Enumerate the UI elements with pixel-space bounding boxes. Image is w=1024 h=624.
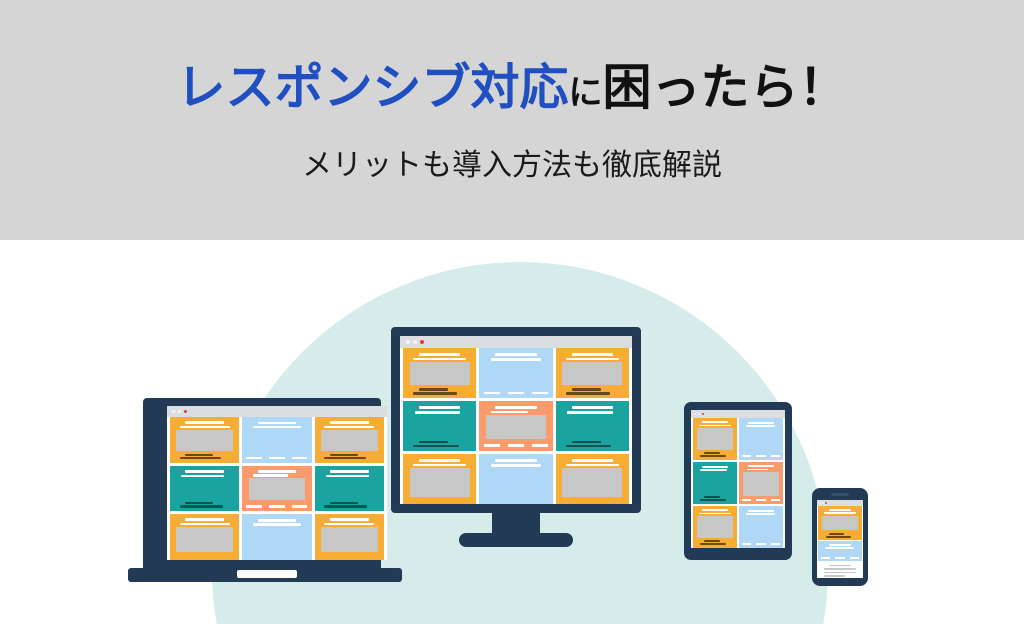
card-subtitle-line xyxy=(747,469,768,471)
page-root: レスポンシブ対応に困ったら！ メリットも導入方法も徹底解説 xyxy=(0,0,1024,624)
card-orange xyxy=(170,417,239,463)
illustration-stage xyxy=(0,240,1024,624)
card-light-blue xyxy=(479,348,552,398)
tablet-browser-chrome xyxy=(691,410,785,418)
card-footer-line-1 xyxy=(572,388,601,391)
card-chip-2 xyxy=(269,505,284,508)
browser-dot-maximize-icon xyxy=(178,410,181,413)
laptop-screen xyxy=(167,406,387,560)
phone-speaker-icon xyxy=(831,493,849,496)
card-image-placeholder xyxy=(822,516,858,530)
browser-dot-minimize-icon xyxy=(406,340,410,344)
card-footer-line-2 xyxy=(700,455,726,457)
card-subtitle-line xyxy=(181,475,224,477)
card-image-placeholder xyxy=(486,415,546,439)
card-image-placeholder xyxy=(562,362,622,385)
card-title-line xyxy=(495,459,536,462)
monitor-bezel xyxy=(391,327,641,513)
card-title-line xyxy=(419,353,460,356)
card-subtitle-line xyxy=(491,464,541,467)
text-line-2 xyxy=(824,568,856,569)
card-title-line xyxy=(702,509,728,511)
card-salmon xyxy=(739,462,783,504)
card-chip-1 xyxy=(742,543,752,545)
card-footer-line-2 xyxy=(413,392,457,395)
device-desktop-monitor xyxy=(391,327,641,535)
card-title-line xyxy=(258,519,297,522)
card-footer-line-1 xyxy=(419,441,448,444)
card-footer-line-1 xyxy=(185,454,213,456)
card-teal xyxy=(315,466,384,512)
card-image-placeholder xyxy=(562,468,622,497)
card-image-placeholder xyxy=(697,516,733,538)
card-title-line xyxy=(185,421,224,424)
card-subtitle-line xyxy=(326,475,369,477)
card-chip-2 xyxy=(269,457,284,459)
card-subtitle-line xyxy=(699,425,731,427)
card-image-placeholder xyxy=(410,468,470,497)
card-image-placeholder xyxy=(176,430,233,451)
tablet-screen xyxy=(691,410,785,548)
card-subtitle-line xyxy=(746,513,775,515)
card-chip-3 xyxy=(292,505,307,508)
browser-dot-minimize-icon xyxy=(694,413,696,415)
browser-dot-close-icon xyxy=(420,340,424,344)
card-title-line xyxy=(185,518,224,521)
card-salmon xyxy=(242,466,311,512)
card-title-line xyxy=(258,470,297,473)
card-subtitle-line xyxy=(567,411,612,414)
card-subtitle-line xyxy=(699,513,731,515)
card-chip-1 xyxy=(742,499,752,501)
card-footer-line-1 xyxy=(330,454,358,456)
text-line-4 xyxy=(824,575,845,576)
card-subtitle-line xyxy=(700,469,727,471)
card-subtitle-line xyxy=(824,512,856,514)
card-title-line xyxy=(572,353,613,356)
card-subtitle-line xyxy=(491,411,528,414)
card-footer-line-2 xyxy=(700,543,726,545)
card-text-block xyxy=(818,562,862,578)
card-title-line xyxy=(702,421,728,423)
card-subtitle-line xyxy=(825,547,854,549)
card-chip-1 xyxy=(821,557,831,559)
card-subtitle-line xyxy=(253,474,288,476)
card-title-line xyxy=(748,510,774,512)
card-orange xyxy=(818,506,862,540)
page-title-emphasis: 困ったら！ xyxy=(603,61,848,115)
card-footer-line-1 xyxy=(704,452,721,454)
monitor-stand-base xyxy=(459,533,573,547)
tablet-bezel xyxy=(684,402,792,560)
card-subtitle-line xyxy=(491,358,541,361)
card-orange xyxy=(693,418,737,460)
browser-dot-maximize-icon xyxy=(822,502,824,504)
card-chip-3 xyxy=(532,444,548,447)
laptop-lid xyxy=(143,398,381,568)
card-subtitle-line xyxy=(413,464,466,467)
card-title-line xyxy=(419,406,460,409)
card-title-line xyxy=(748,422,774,424)
page-title-particle: に xyxy=(569,74,603,112)
card-subtitle-line xyxy=(324,426,374,428)
browser-dot-close-icon xyxy=(184,410,187,413)
card-title-line xyxy=(572,406,613,409)
card-chip-2 xyxy=(508,392,524,395)
card-subtitle-line xyxy=(253,523,300,525)
text-line-1 xyxy=(829,565,852,567)
card-footer-line-2 xyxy=(700,499,726,501)
card-teal xyxy=(170,466,239,512)
card-title-line xyxy=(702,466,728,468)
card-light-blue xyxy=(479,454,552,504)
card-chip-2 xyxy=(508,444,524,447)
card-light-blue xyxy=(818,541,862,561)
card-teal xyxy=(693,462,737,504)
card-footer-line-1 xyxy=(185,502,213,504)
card-chip-1 xyxy=(246,505,261,508)
card-chip-3 xyxy=(771,499,781,501)
browser-dot-maximize-icon xyxy=(413,340,417,344)
card-teal xyxy=(403,401,476,451)
card-footer-line-2 xyxy=(324,505,367,507)
card-footer-line-1 xyxy=(704,496,721,498)
card-orange xyxy=(403,348,476,398)
card-subtitle-line xyxy=(180,426,230,428)
card-footer-line-1 xyxy=(829,533,844,535)
laptop-trackpad-notch xyxy=(237,570,297,578)
monitor-browser-chrome xyxy=(400,336,632,348)
monitor-card-grid xyxy=(400,348,632,504)
card-subtitle-line xyxy=(566,464,619,467)
card-title-line xyxy=(185,470,224,473)
phone-card-stack xyxy=(817,506,863,578)
card-chip-2 xyxy=(756,499,766,501)
card-teal xyxy=(556,401,629,451)
card-chip-3 xyxy=(771,455,781,457)
card-subtitle-line xyxy=(415,411,460,414)
card-title-line xyxy=(330,518,369,521)
phone-screen xyxy=(817,500,863,578)
card-chip-1 xyxy=(742,455,752,457)
card-chip-1 xyxy=(484,392,500,395)
device-tablet xyxy=(684,402,792,560)
header-band: レスポンシブ対応に困ったら！ メリットも導入方法も徹底解説 xyxy=(0,0,1024,240)
browser-dot-minimize-icon xyxy=(172,410,175,413)
card-salmon xyxy=(479,401,552,451)
card-subtitle-line xyxy=(180,523,230,525)
card-title-line xyxy=(258,422,297,425)
card-chip-1 xyxy=(484,444,500,447)
card-footer-line-2 xyxy=(180,457,222,459)
card-image-placeholder xyxy=(176,527,233,552)
card-image-placeholder xyxy=(410,362,470,385)
card-orange xyxy=(315,417,384,463)
card-light-blue xyxy=(242,514,311,560)
card-title-line xyxy=(572,459,613,462)
card-title-line xyxy=(419,459,460,462)
card-title-line xyxy=(829,544,852,546)
card-subtitle-line xyxy=(253,426,300,428)
monitor-screen xyxy=(400,336,632,504)
card-orange xyxy=(403,454,476,504)
card-subtitle-line xyxy=(413,358,466,361)
browser-dot-close-icon xyxy=(702,413,704,415)
browser-dot-minimize-icon xyxy=(819,502,821,504)
card-light-blue xyxy=(739,418,783,460)
card-image-placeholder xyxy=(249,478,306,500)
card-chip-2 xyxy=(756,543,766,545)
browser-dot-close-icon xyxy=(825,502,827,504)
card-chip-2 xyxy=(835,557,845,559)
card-chip-2 xyxy=(756,455,766,457)
card-chip-3 xyxy=(292,457,307,459)
card-subtitle-line xyxy=(746,425,775,427)
card-footer-line-1 xyxy=(330,502,358,504)
card-chip-3 xyxy=(771,543,781,545)
card-light-blue xyxy=(739,506,783,548)
card-footer-line-1 xyxy=(704,540,721,542)
card-title-line xyxy=(495,353,536,356)
card-image-placeholder xyxy=(321,527,378,552)
card-orange xyxy=(315,514,384,560)
laptop-browser-chrome xyxy=(167,406,387,417)
card-orange xyxy=(693,506,737,548)
card-footer-line-2 xyxy=(324,457,366,459)
card-footer-line-2 xyxy=(566,445,611,448)
tablet-card-grid xyxy=(691,418,785,548)
phone-bezel xyxy=(812,488,868,586)
card-footer-line-2 xyxy=(826,536,851,538)
device-laptop xyxy=(128,398,402,506)
card-footer-line-2 xyxy=(180,505,223,507)
card-footer-line-2 xyxy=(566,392,610,395)
card-title-line xyxy=(748,465,774,467)
card-chip-1 xyxy=(246,457,261,459)
card-footer-line-2 xyxy=(413,445,458,448)
card-title-line xyxy=(495,406,536,409)
page-title: レスポンシブ対応に困ったら！ xyxy=(0,58,1024,123)
card-image-placeholder xyxy=(321,430,378,451)
card-chip-3 xyxy=(532,392,548,395)
card-footer-line-1 xyxy=(572,441,601,444)
text-line-3 xyxy=(824,572,856,573)
card-subtitle-line xyxy=(324,523,374,525)
card-footer-line-1 xyxy=(419,388,448,391)
page-title-accent: レスポンシブ対応 xyxy=(176,61,568,115)
card-title-line xyxy=(829,509,852,511)
card-orange xyxy=(170,514,239,560)
page-subtitle: メリットも導入方法も徹底解説 xyxy=(0,146,1024,186)
card-image-placeholder xyxy=(743,472,779,496)
browser-dot-maximize-icon xyxy=(698,413,700,415)
laptop-card-grid xyxy=(167,417,387,560)
card-chip-3 xyxy=(850,557,860,559)
card-subtitle-line xyxy=(566,358,619,361)
card-image-placeholder xyxy=(697,428,733,450)
device-smartphone xyxy=(812,488,868,586)
card-title-line xyxy=(330,421,369,424)
card-orange xyxy=(556,348,629,398)
card-orange xyxy=(556,454,629,504)
card-title-line xyxy=(330,470,369,473)
card-light-blue xyxy=(242,417,311,463)
